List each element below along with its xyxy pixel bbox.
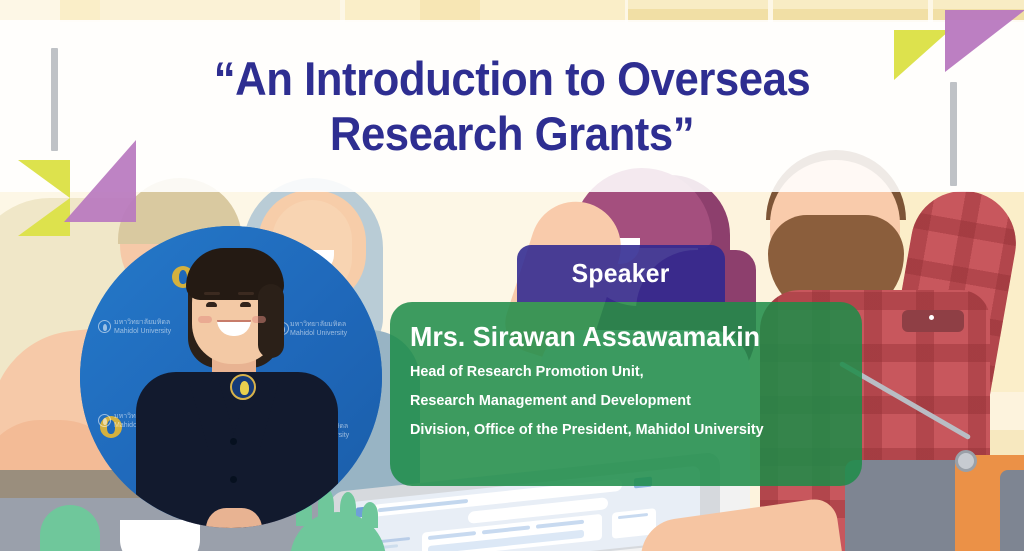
portrait-blazer-button (230, 476, 237, 483)
wall-panel (345, 0, 625, 22)
illustration-luggage-gray (845, 460, 965, 551)
illustration-luggage-gray-2 (1000, 470, 1024, 551)
speaker-name: Mrs. Sirawan Assawamakin (410, 322, 844, 353)
illustration-luggage-knob (955, 450, 977, 472)
window-mullion (768, 0, 773, 22)
portrait-eye-left (206, 302, 217, 307)
mahidol-watermark: มหาวิทยาลัยมหิดล Mahidol University (290, 321, 347, 339)
portrait-blush-right (252, 316, 266, 323)
speaker-affiliation-line-2: Research Management and Development (410, 393, 844, 408)
speaker-badge-label: Speaker (572, 258, 670, 289)
portrait-blazer-button (230, 438, 237, 445)
speaker-info-card: Mrs. Sirawan Assawamakin Head of Researc… (390, 302, 862, 486)
portrait-eyebrow-left (204, 292, 220, 295)
portrait-hands (206, 508, 262, 528)
wall-panel (420, 0, 480, 22)
portrait-blush-left (198, 316, 212, 323)
window-mullion (928, 0, 933, 22)
portrait-eyebrow-right (238, 292, 254, 295)
mahidol-watermark: มหาวิทยาลัยมหิดล Mahidol University (114, 319, 171, 337)
mahidol-crest-icon (230, 374, 256, 400)
speaker-affiliation-line-1: Head of Research Promotion Unit, (410, 364, 844, 379)
mahidol-watermark-logo (98, 414, 111, 427)
wall-panel (60, 0, 100, 22)
window-frame (628, 0, 1024, 9)
banner-title-line-1: “An Introduction to Overseas (214, 51, 811, 106)
illustration-shirt-pocket-button (929, 315, 934, 320)
speaker-badge: Speaker (517, 245, 725, 302)
mahidol-watermark-logo (98, 320, 111, 333)
speaker-portrait: มหาวิทยาลัยมหิดล Mahidol University มหาว… (80, 226, 382, 528)
seminar-banner: “An Introduction to Overseas Research Gr… (0, 0, 1024, 551)
portrait-eye-right (240, 302, 251, 307)
banner-title: “An Introduction to Overseas Research Gr… (36, 20, 988, 192)
illustration-shirt-pocket (902, 310, 964, 332)
banner-title-line-2: Research Grants” (330, 106, 694, 161)
wall-panel (100, 0, 340, 22)
speaker-affiliation-line-3: Division, Office of the President, Mahid… (410, 422, 844, 437)
